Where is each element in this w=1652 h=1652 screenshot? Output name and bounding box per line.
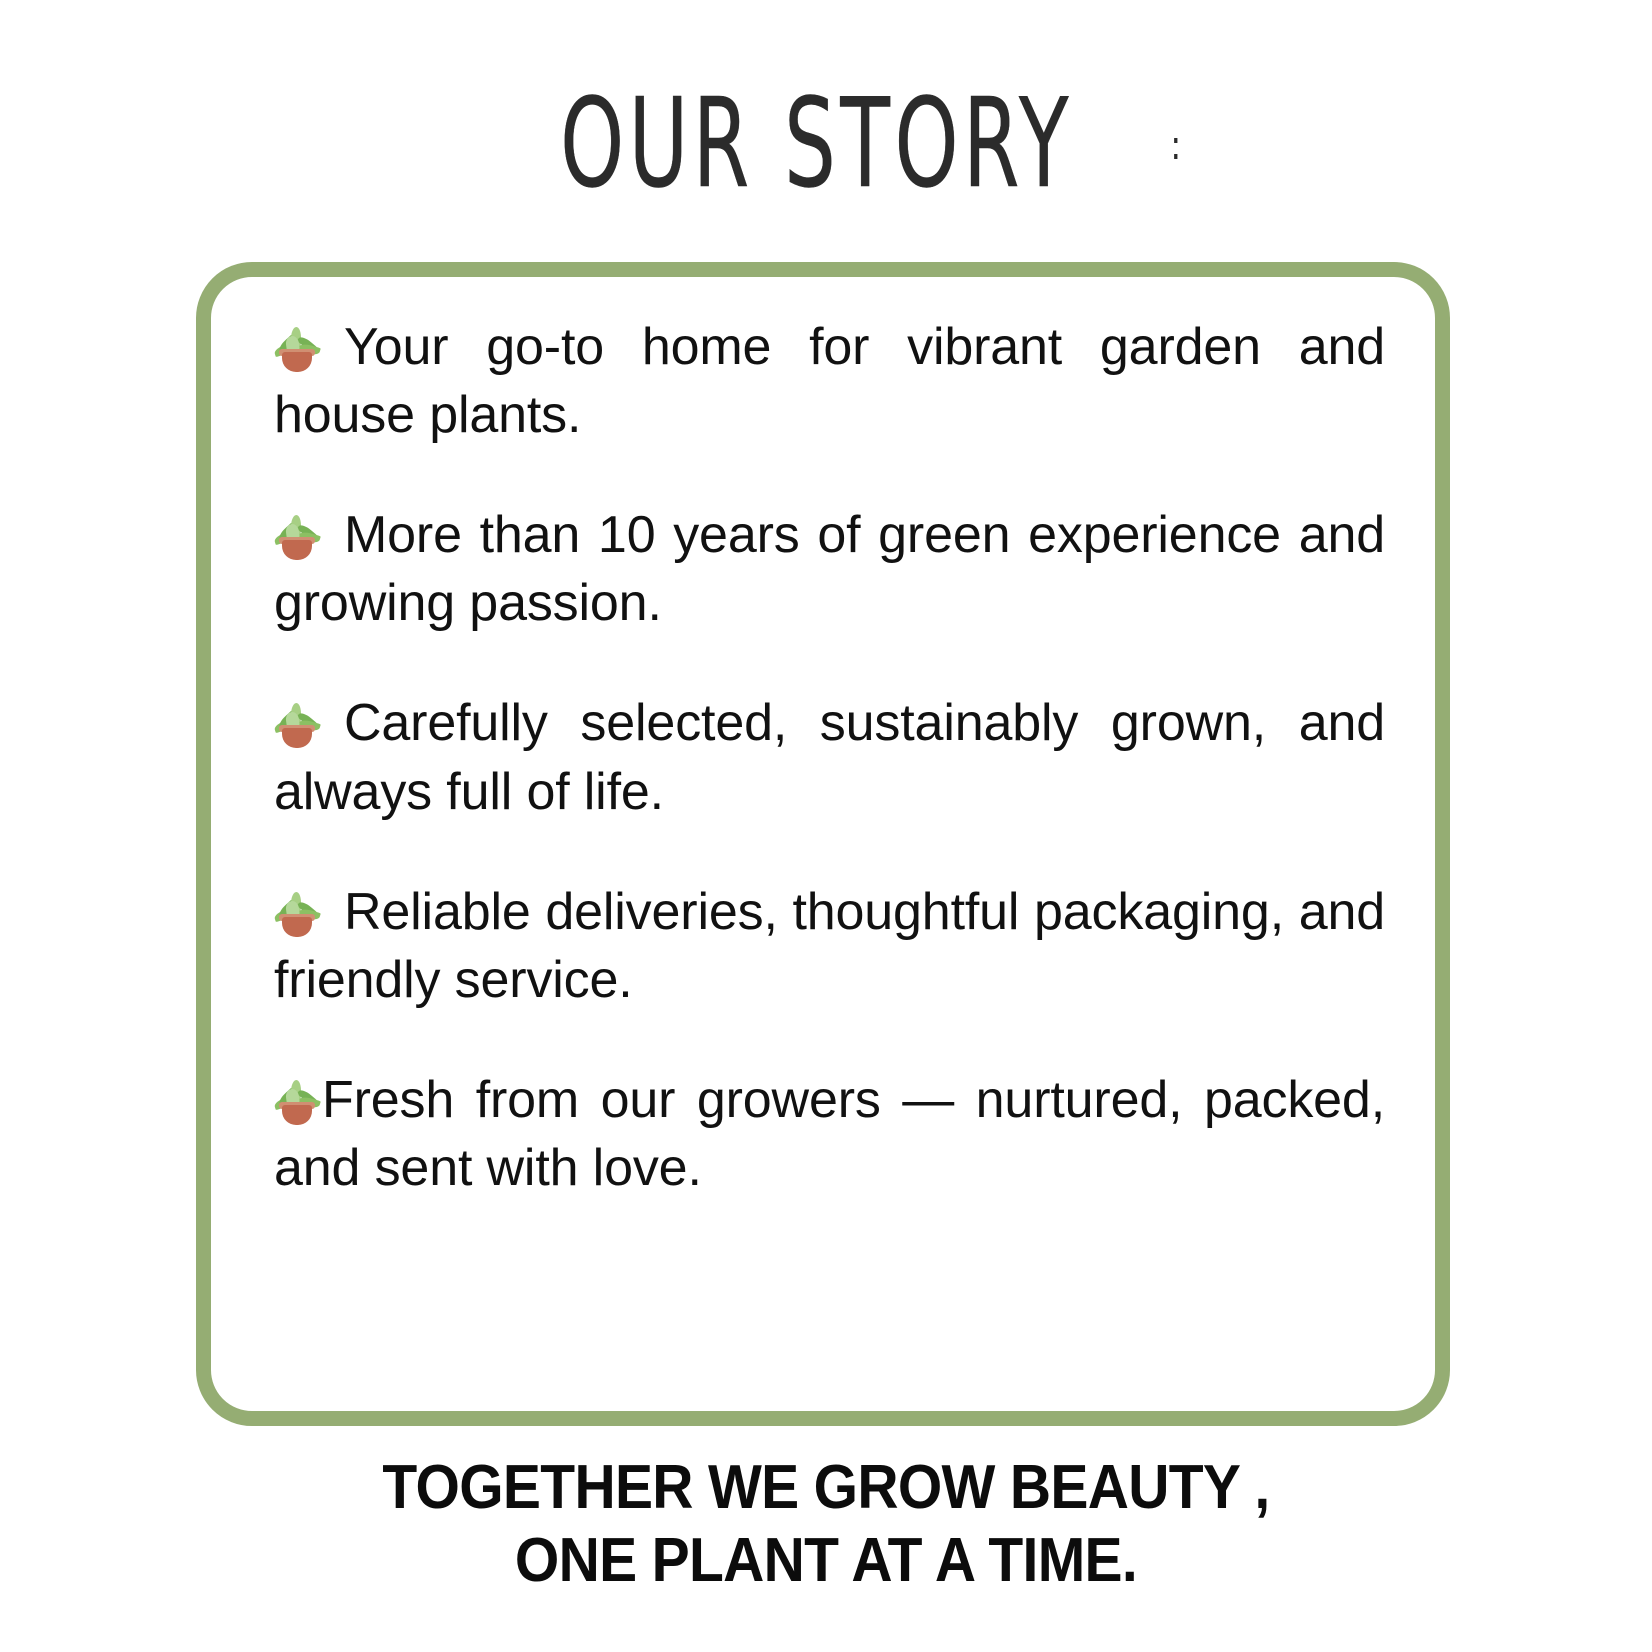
tagline-line-1: TOGETHER WE GROW BEAUTY , [66, 1452, 1586, 1525]
story-card: Your go-to home for vibrant garden and h… [196, 262, 1450, 1426]
list-item: More than 10 years of green experience a… [274, 501, 1385, 637]
list-item: Reliable deliveries, thoughtful packagin… [274, 878, 1385, 1014]
list-item-text: Carefully selected, sustainably grown, a… [274, 694, 1385, 820]
potted-plant-icon [274, 326, 320, 372]
tagline-line-2: ONE PLANT AT A TIME. [66, 1525, 1586, 1598]
potted-plant-icon [274, 891, 320, 937]
page-title-colon: : [1170, 123, 1181, 169]
list-item-text: Your go-to home for vibrant garden and h… [274, 318, 1385, 444]
potted-plant-icon [274, 514, 320, 560]
story-card-content: Your go-to home for vibrant garden and h… [274, 313, 1385, 1202]
list-item-text: Reliable deliveries, thoughtful packagin… [274, 883, 1385, 1009]
list-item: Carefully selected, sustainably grown, a… [274, 689, 1385, 825]
list-item-text: Fresh from our growers — nurtured, packe… [274, 1071, 1385, 1197]
our-story-card-page: OUR STORY: Your go-to home for vibrant g… [0, 0, 1652, 1652]
list-item: Fresh from our growers — nurtured, packe… [274, 1066, 1385, 1202]
list-item: Your go-to home for vibrant garden and h… [274, 313, 1385, 449]
potted-plant-icon [274, 1079, 320, 1125]
footer-tagline: TOGETHER WE GROW BEAUTY , ONE PLANT AT A… [0, 1452, 1652, 1597]
potted-plant-icon [274, 702, 320, 748]
page-title: OUR STORY [560, 82, 1073, 205]
list-item-text: More than 10 years of green experience a… [274, 506, 1385, 632]
page-title-wrapper: OUR STORY: [0, 82, 1652, 192]
